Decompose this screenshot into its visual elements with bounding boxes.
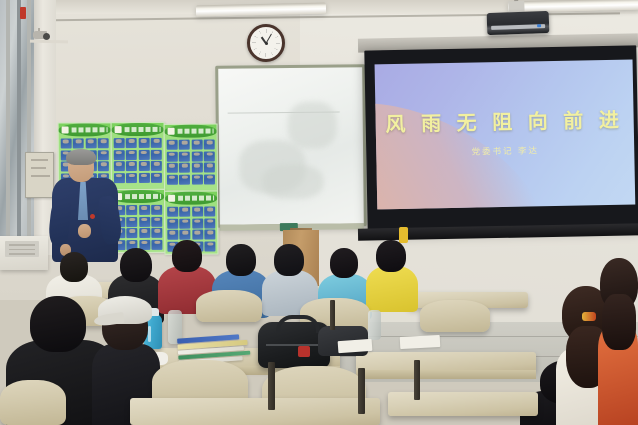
chair-leg <box>330 300 335 330</box>
chair-back <box>196 290 262 322</box>
wall-notice-panel <box>25 152 54 198</box>
chair-leg <box>358 368 365 414</box>
camera-shelf <box>30 40 68 44</box>
student-yellow-tee <box>366 240 418 306</box>
wall-clock <box>247 24 285 62</box>
desk-front-row <box>130 398 380 425</box>
clear-water-bottle <box>368 310 381 340</box>
hair-tie <box>582 312 596 321</box>
lapel-badge <box>90 214 95 219</box>
window-left <box>0 0 34 250</box>
paper-sheet <box>338 339 373 353</box>
whiteboard <box>215 64 367 228</box>
student-orange-top <box>598 258 638 425</box>
desk-mid-edge <box>356 370 536 379</box>
presenter-standing <box>52 152 122 262</box>
slide-decoration-wave <box>375 65 580 209</box>
desk-mid-row <box>356 352 536 372</box>
projection-screen: 风 雨 无 阻 向 前 进 党委书记 李达 <box>364 45 638 231</box>
chair-back-front <box>0 380 66 425</box>
slide-title: 风 雨 无 阻 向 前 进 <box>375 103 634 137</box>
lectern-monitor <box>0 236 48 270</box>
student-check-shirt <box>262 244 318 310</box>
chair-back <box>420 300 490 332</box>
presentation-slide: 风 雨 无 阻 向 前 进 党委书记 李达 <box>375 59 636 209</box>
desk-front-row <box>388 392 538 416</box>
poster <box>164 123 218 191</box>
ponytail <box>602 294 636 350</box>
ceiling-projector-icon <box>487 11 550 35</box>
security-camera-icon <box>33 28 51 40</box>
fire-alarm-icon <box>20 7 26 19</box>
chair-leg <box>414 360 420 400</box>
paper-sheet <box>400 335 441 349</box>
classroom-photo: 风 雨 无 阻 向 前 进 党委书记 李达 <box>0 0 638 425</box>
chair-leg <box>268 362 275 410</box>
